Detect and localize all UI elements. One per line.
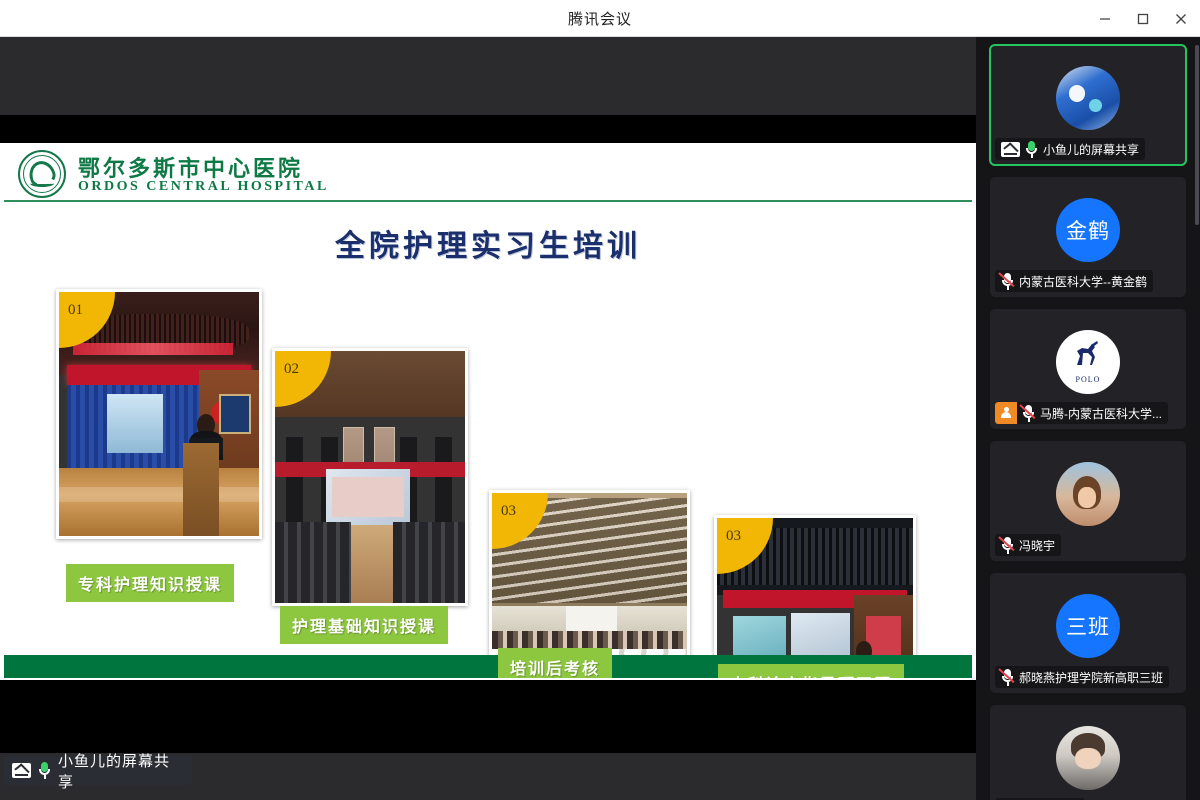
slide-title: 全院护理实习生培训 xyxy=(0,221,976,265)
header-divider xyxy=(4,200,972,202)
avatar: POLO xyxy=(1056,330,1120,394)
microphone-on-icon xyxy=(1025,141,1038,158)
participant-name-0: 小鱼儿的屏幕共享 xyxy=(1043,141,1139,158)
participant-name-4: 郝晓燕护理学院新高职三班 xyxy=(1019,669,1163,686)
presentation-slide: 鄂尔多斯市中心医院 ORDOS CENTRAL HOSPITAL 全院护理实习生… xyxy=(0,143,976,678)
shared-screen-stage[interactable]: 鄂尔多斯市中心医院 ORDOS CENTRAL HOSPITAL 全院护理实习生… xyxy=(0,37,976,800)
avatar-initials: 三班 xyxy=(1056,594,1120,658)
hospital-name-en: ORDOS CENTRAL HOSPITAL xyxy=(78,179,329,195)
participant-tile-0[interactable]: 小鱼儿的屏幕共享 xyxy=(990,45,1186,165)
microphone-on-icon xyxy=(38,762,51,779)
participant-namebar-1: 内蒙古医科大学--黄金鹤 xyxy=(995,270,1153,292)
window-controls xyxy=(1086,0,1200,37)
window-title: 腾讯会议 xyxy=(568,8,632,29)
photo-caption-3: 培训后考核 xyxy=(498,648,612,678)
photo-caption-4: 本科论文指导预开题 xyxy=(718,664,904,678)
share-status-bar[interactable]: 小鱼儿的屏幕共享 xyxy=(4,756,192,785)
slide-photo-2: 02 xyxy=(272,348,468,606)
participant-namebar-0: 小鱼儿的屏幕共享 xyxy=(995,138,1145,160)
participant-name-3: 冯晓宇 xyxy=(1019,537,1055,554)
avatar-initials: 金鹤 xyxy=(1056,198,1120,262)
letterbox-top xyxy=(0,37,976,115)
hospital-logo-icon xyxy=(18,150,66,198)
share-status-label: 小鱼儿的屏幕共享 xyxy=(58,750,184,792)
microphone-muted-icon xyxy=(1001,537,1014,554)
slide-photo-4: 03 xyxy=(714,515,916,678)
maximize-button[interactable] xyxy=(1124,0,1162,37)
letterbox-black-top xyxy=(0,115,976,143)
participant-tile-5[interactable]: 一班淡志强 xyxy=(990,705,1186,800)
tencent-meeting-window: 腾讯会议 鄂尔多斯市中心医院 ORDOS CE xyxy=(0,0,1200,800)
participant-name-1: 内蒙古医科大学--黄金鹤 xyxy=(1019,273,1147,290)
letterbox-black-bottom xyxy=(0,680,976,753)
participant-tile-3[interactable]: 冯晓宇 xyxy=(990,441,1186,561)
screen-share-icon xyxy=(1001,142,1020,157)
host-badge-icon xyxy=(995,402,1017,424)
avatar xyxy=(1056,726,1120,790)
participant-tile-4[interactable]: 三班 郝晓燕护理学院新高职三班 xyxy=(990,573,1186,693)
slide-photo-1: 01 xyxy=(56,289,262,539)
avatar xyxy=(1056,66,1120,130)
sidebar-scrollbar[interactable] xyxy=(1195,45,1199,225)
participant-tile-2[interactable]: POLO 马腾-内蒙古医科大学... xyxy=(990,309,1186,429)
polo-horse-icon xyxy=(1071,339,1105,369)
polo-label: POLO xyxy=(1056,375,1120,384)
participant-name-2: 马腾-内蒙古医科大学... xyxy=(1040,405,1162,422)
participant-namebar-4: 郝晓燕护理学院新高职三班 xyxy=(995,666,1169,688)
minimize-button[interactable] xyxy=(1086,0,1124,37)
microphone-muted-icon xyxy=(1022,405,1035,422)
microphone-muted-icon xyxy=(1001,669,1014,686)
window-titlebar: 腾讯会议 xyxy=(0,0,1200,37)
microphone-muted-icon xyxy=(1001,273,1014,290)
participant-namebar-3: 冯晓宇 xyxy=(995,534,1061,556)
slide-header: 鄂尔多斯市中心医院 ORDOS CENTRAL HOSPITAL xyxy=(0,143,976,199)
participant-tile-1[interactable]: 金鹤 内蒙古医科大学--黄金鹤 xyxy=(990,177,1186,297)
participants-sidebar[interactable]: 小鱼儿的屏幕共享 金鹤 内蒙古医科大学--黄金鹤 POLO xyxy=(976,37,1200,800)
close-button[interactable] xyxy=(1162,0,1200,37)
screen-share-icon xyxy=(12,763,31,778)
photo-caption-2: 护理基础知识授课 xyxy=(280,606,448,644)
photo-caption-1: 专科护理知识授课 xyxy=(66,564,234,602)
avatar xyxy=(1056,462,1120,526)
participant-namebar-2: 马腾-内蒙古医科大学... xyxy=(995,402,1168,424)
